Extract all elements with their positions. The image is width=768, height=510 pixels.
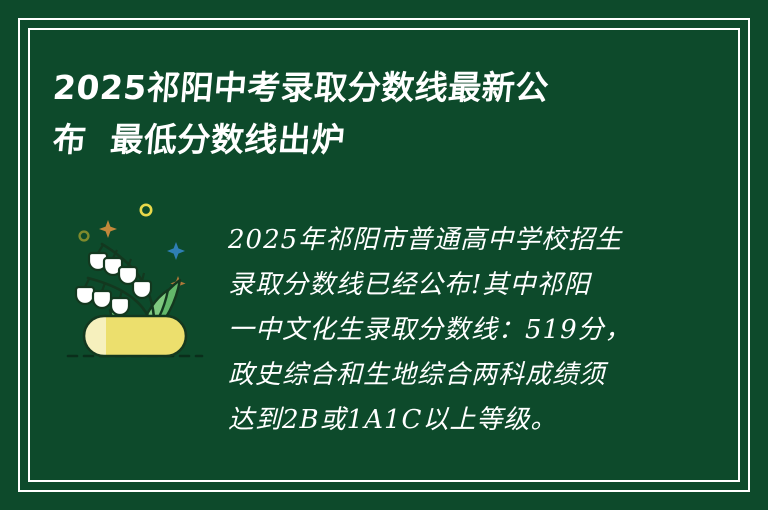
page-title: 2025祁阳中考录取分数线最新公 布 最低分数线出炉	[53, 62, 713, 166]
sparkle-orange-star-icon	[99, 220, 117, 238]
lily-of-the-valley-illustration	[62, 198, 222, 370]
flower-pot	[84, 316, 186, 356]
body-line-1: 2025年祁阳市普通高中学校招生	[228, 218, 678, 263]
title-line-2: 布 最低分数线出炉	[51, 114, 716, 166]
sparkle-olive-ring-icon	[80, 232, 89, 241]
body-paragraph: 2025年祁阳市普通高中学校招生 录取分数线已经公布!其中祁阳 一中文化生录取分…	[228, 218, 678, 443]
sparkle-yellow-ring-icon	[141, 205, 151, 215]
poster-canvas: 2025祁阳中考录取分数线最新公 布 最低分数线出炉	[0, 0, 768, 510]
flowers-lower	[76, 279, 129, 315]
body-line-2: 录取分数线已经公布!其中祁阳	[228, 263, 678, 308]
sparkle-blue-star-icon	[167, 242, 185, 260]
body-line-5: 达到2B或1A1C以上等级。	[228, 398, 678, 443]
title-line-1: 2025祁阳中考录取分数线最新公	[51, 62, 716, 114]
body-line-3: 一中文化生录取分数线：519分，	[228, 308, 678, 353]
body-line-4: 政史综合和生地综合两科成绩须	[228, 353, 678, 398]
